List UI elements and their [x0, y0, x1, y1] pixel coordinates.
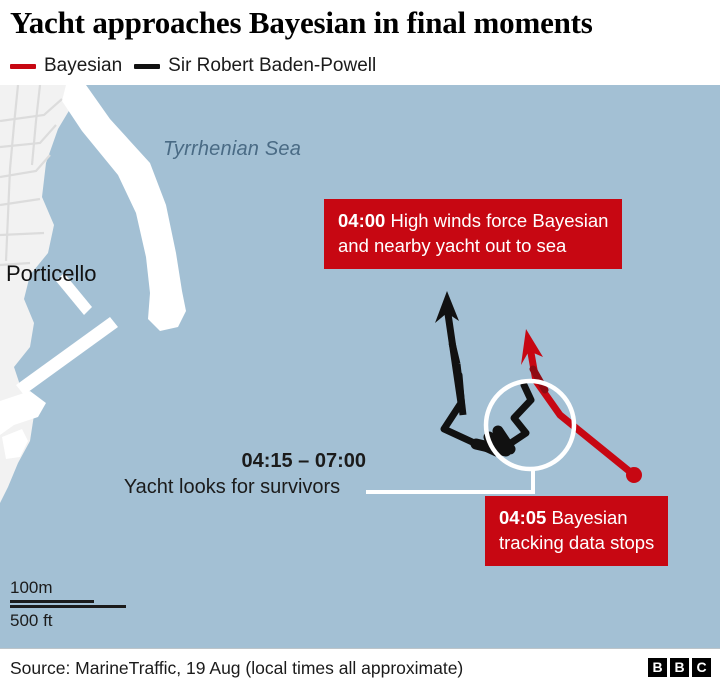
bbc-logo: B B C	[648, 658, 711, 677]
line-swatch-icon-sir-robert-baden-powell	[134, 64, 160, 69]
scale-imperial-label: 500 ft	[10, 610, 140, 631]
annotation-survivors: 04:15 – 07:00 Yacht looks for survivors	[98, 448, 366, 501]
legend-label-bayesian: Bayesian	[44, 55, 122, 77]
scale-imperial-bar	[10, 605, 126, 608]
callout-tracking-stops-time: 04:05	[499, 507, 546, 528]
page-title: Yacht approaches Bayesian in final momen…	[10, 4, 716, 42]
scale-metric-bar	[10, 600, 94, 603]
line-swatch-icon-bayesian	[10, 64, 36, 69]
town-label-porticello: Porticello	[6, 261, 96, 287]
annotation-survivors-time: 04:15 – 07:00	[98, 448, 366, 474]
callout-high-winds-text1: High winds force Bayesian	[385, 210, 608, 231]
bbc-logo-letter-2: B	[670, 658, 689, 677]
sea-label: Tyrrhenian Sea	[163, 138, 301, 161]
scale-bar: 100m 500 ft	[10, 577, 140, 631]
callout-high-winds-time: 04:00	[338, 210, 385, 231]
legend-label-sir-robert-baden-powell: Sir Robert Baden-Powell	[168, 55, 376, 77]
footer: Source: MarineTraffic, 19 Aug (local tim…	[0, 648, 720, 686]
callout-tracking-stops-line2: tracking data stops	[499, 530, 654, 555]
annotation-survivors-text: Yacht looks for survivors	[98, 474, 366, 501]
map-canvas[interactable]: Tyrrhenian Sea Porticello 04:00 High win…	[0, 85, 720, 648]
source-text: Source: MarineTraffic, 19 Aug (local tim…	[10, 658, 463, 679]
bbc-logo-letter-1: B	[648, 658, 667, 677]
callout-high-winds-line2: and nearby yacht out to sea	[338, 233, 608, 258]
scale-metric-label: 100m	[10, 577, 140, 598]
callout-tracking-stops-line1: 04:05 Bayesian	[499, 505, 654, 530]
legend: Bayesian Sir Robert Baden-Powell	[10, 52, 376, 80]
bbc-logo-letter-3: C	[692, 658, 711, 677]
callout-high-winds[interactable]: 04:00 High winds force Bayesian and near…	[324, 199, 622, 269]
callout-high-winds-line1: 04:00 High winds force Bayesian	[338, 208, 608, 233]
map-graphic: Tyrrhenian Sea Porticello 04:00 High win…	[0, 0, 720, 685]
header: Yacht approaches Bayesian in final momen…	[0, 0, 720, 85]
legend-item-sir-robert-baden-powell[interactable]: Sir Robert Baden-Powell	[134, 55, 376, 77]
callout-tracking-stops[interactable]: 04:05 Bayesian tracking data stops	[485, 496, 668, 566]
callout-tracking-stops-text1: Bayesian	[546, 507, 627, 528]
bayesian-end-point	[626, 467, 642, 483]
legend-item-bayesian[interactable]: Bayesian	[10, 55, 122, 77]
